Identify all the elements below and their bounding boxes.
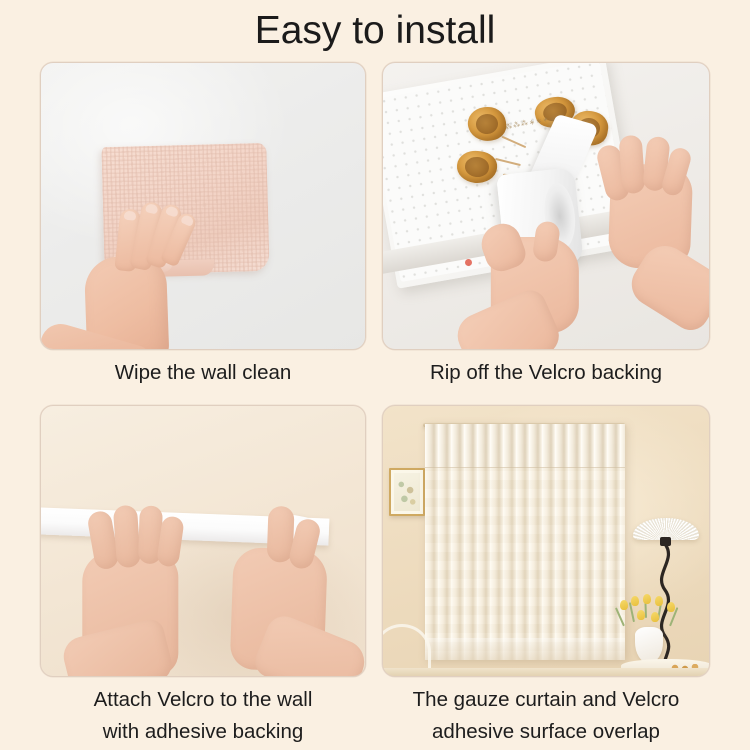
notebook-dot [465, 259, 472, 266]
step-4-image [382, 405, 710, 677]
curtain-valance [425, 424, 625, 468]
hand-icon [54, 193, 210, 350]
step-1-caption: Wipe the wall clean [30, 357, 376, 389]
curtain-hem [425, 638, 625, 660]
step-2: ⁂⁂⁂ ∗∗∗ [382, 62, 710, 350]
page-title: Easy to install [0, 8, 750, 54]
steps-grid: Wipe the wall clean ⁂⁂⁂ ∗∗∗ [40, 62, 710, 722]
step-1-image [40, 62, 366, 350]
step-4-caption-line-2: adhesive surface overlap [372, 716, 720, 748]
step-2-image: ⁂⁂⁂ ∗∗∗ [382, 62, 710, 350]
step-4: The gauze curtain and Velcro adhesive su… [382, 405, 710, 677]
finger [619, 135, 646, 194]
step-3-caption: Attach Velcro to the wall with adhesive … [30, 684, 376, 748]
step-3: Attach Velcro to the wall with adhesive … [40, 405, 366, 677]
step-3-image [40, 405, 366, 677]
step-3-caption-line-2: with adhesive backing [30, 716, 376, 748]
step-2-caption: Rip off the Velcro backing [372, 357, 720, 389]
product-instruction-page: Easy to install Wipe the wall clean [0, 0, 750, 750]
step-4-caption-line-1: The gauze curtain and Velcro [413, 688, 680, 711]
step-4-caption: The gauze curtain and Velcro adhesive su… [372, 684, 720, 748]
left-hand-icon [69, 499, 231, 677]
step-1: Wipe the wall clean [40, 62, 366, 350]
step-3-caption-line-1: Attach Velcro to the wall [94, 688, 313, 711]
framed-botanical-print [389, 468, 425, 516]
right-hand-icon [210, 503, 366, 677]
floor-baseboard [383, 668, 709, 676]
left-hand-icon [472, 206, 636, 350]
finger [113, 505, 141, 569]
